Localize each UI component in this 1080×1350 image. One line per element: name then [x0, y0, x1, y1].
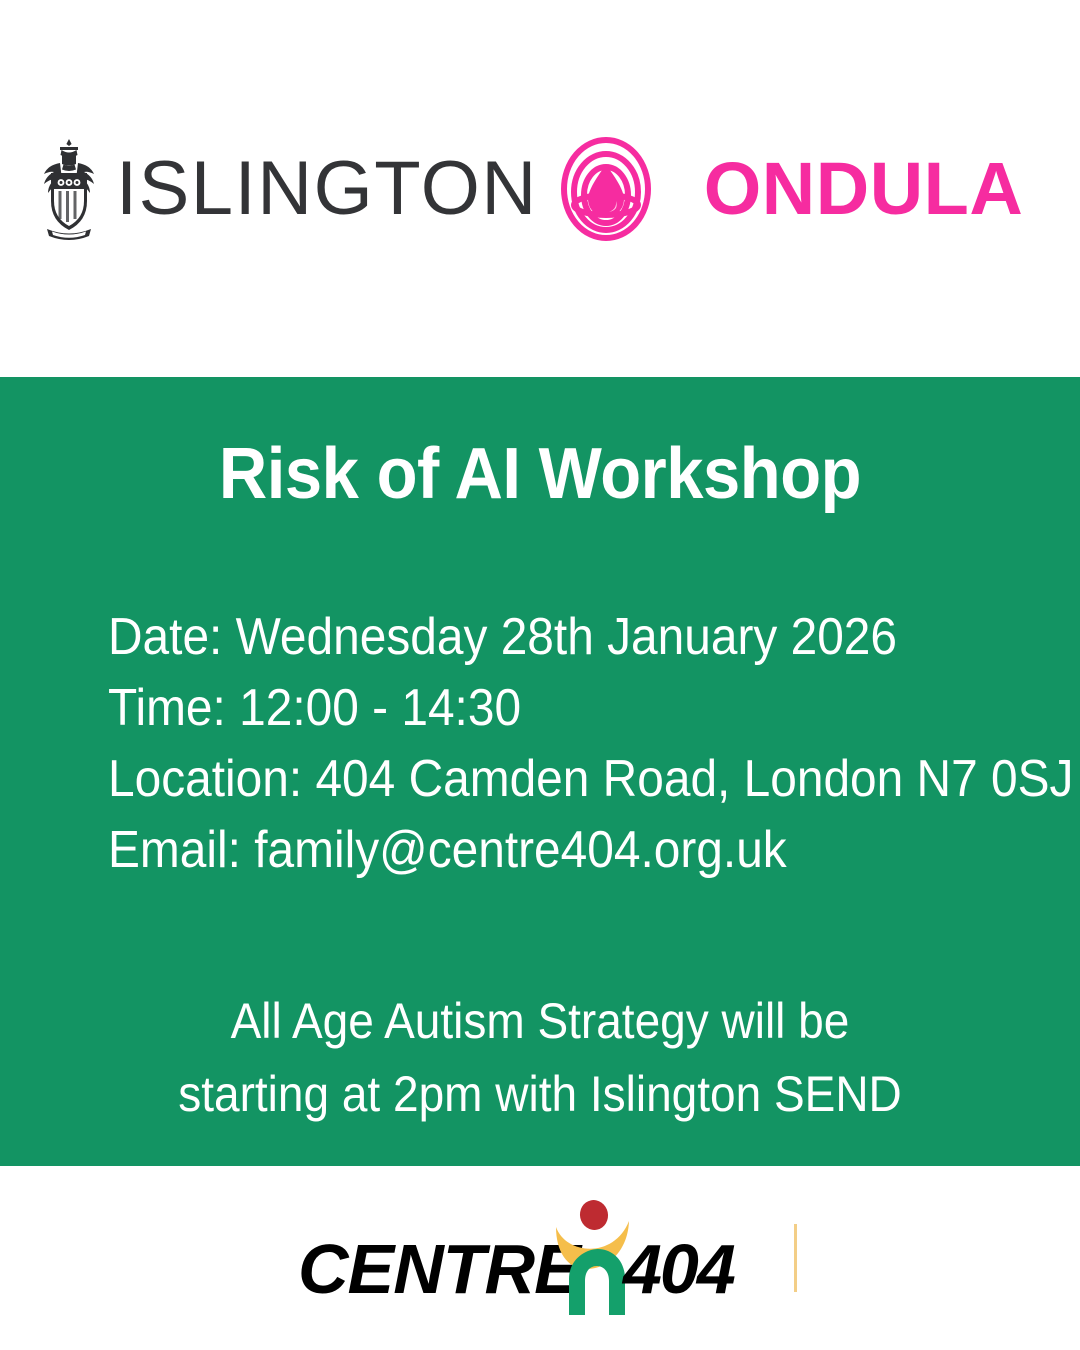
water-droplet-ripple-icon	[554, 137, 658, 241]
partner-logo-band: ISLINGTON ONDULA	[0, 0, 1080, 377]
islington-logo: ISLINGTON	[30, 137, 538, 241]
event-detail-email: Email: family@centre404.org.uk	[108, 815, 973, 886]
islington-coat-of-arms-icon	[30, 137, 108, 241]
event-detail-date: Date: Wednesday 28th January 2026	[108, 602, 973, 673]
event-details-block: Date: Wednesday 28th January 2026 Time: …	[108, 602, 973, 886]
page-title: Risk of AI Workshop	[38, 437, 1042, 513]
ondula-logo: ONDULA	[554, 137, 1024, 241]
centre404-logo: CENTRE 404	[298, 1193, 797, 1323]
event-detail-location: Location: 404 Camden Road, London N7 0SJ	[108, 744, 973, 815]
event-content-panel: Risk of AI Workshop Date: Wednesday 28th…	[0, 377, 1080, 1166]
centre404-figure-icon: CENTRE 404	[298, 1193, 768, 1323]
ondula-wordmark: ONDULA	[704, 152, 1024, 226]
footer-divider	[794, 1224, 797, 1292]
islington-wordmark: ISLINGTON	[116, 151, 538, 227]
poster-canvas: ISLINGTON ONDULA Risk of AI Workshop Dat…	[0, 0, 1080, 1350]
event-detail-time: Time: 12:00 - 14:30	[108, 673, 973, 744]
footer-logo-band: CENTRE 404	[0, 1166, 1080, 1350]
svg-text:CENTRE: CENTRE	[298, 1230, 583, 1308]
svg-text:404: 404	[621, 1230, 735, 1308]
event-note-block: All Age Autism Strategy will be starting…	[43, 985, 1037, 1131]
event-note-line-2: starting at 2pm with Islington SEND	[43, 1058, 1037, 1131]
event-note-line-1: All Age Autism Strategy will be	[43, 985, 1037, 1058]
